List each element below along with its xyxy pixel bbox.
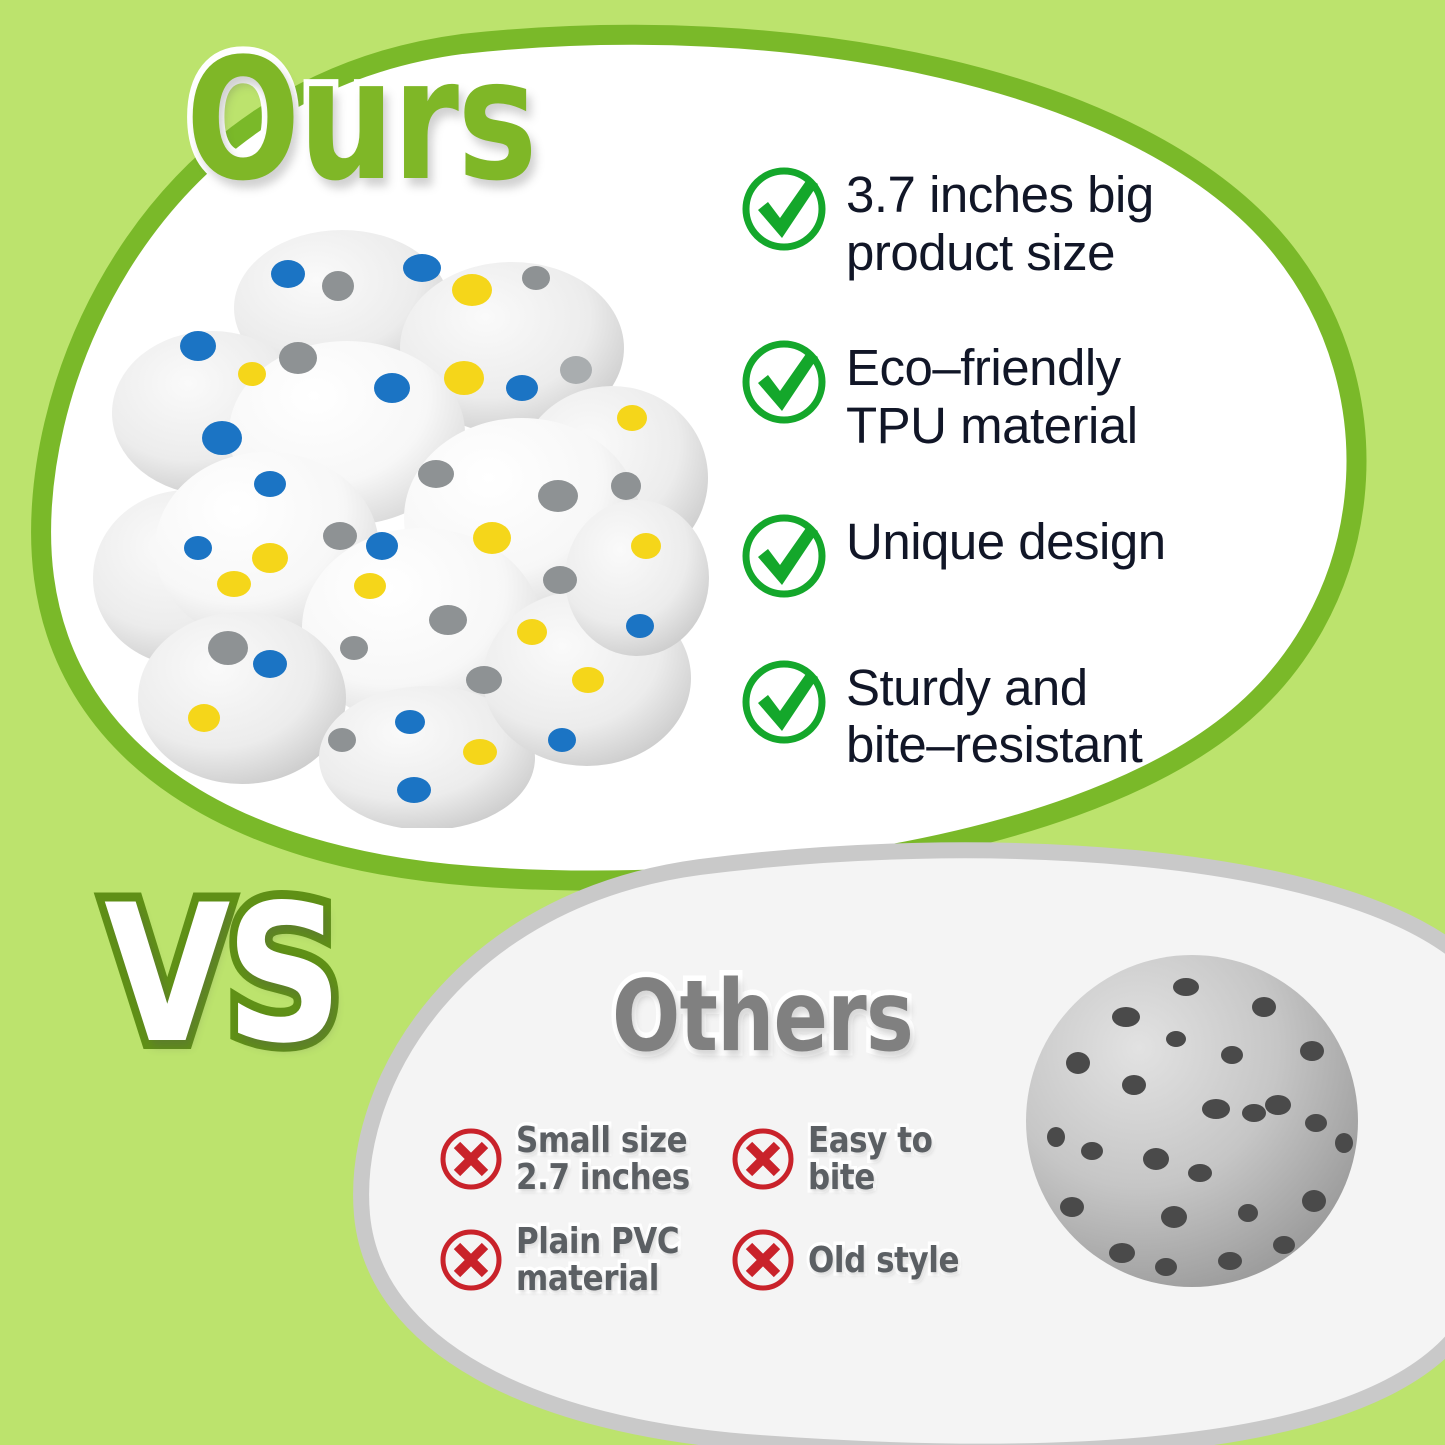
drawback-label: Plain PVC material xyxy=(516,1223,679,1298)
drawback-item: Old style xyxy=(730,1223,1018,1298)
feature-label: Eco–friendly TPU material xyxy=(846,333,1138,454)
red-x-circle-icon xyxy=(438,1126,504,1192)
ours-product-image xyxy=(92,228,712,828)
red-x-circle-icon xyxy=(438,1227,504,1293)
drawback-item: Easy to bite xyxy=(730,1122,1018,1197)
comparison-infographic: Ours VS Others 3.7 inches big product si… xyxy=(0,0,1445,1445)
drawback-label: Small size 2.7 inches xyxy=(516,1122,690,1197)
drawback-item: Plain PVC material xyxy=(438,1223,730,1298)
drawback-item: Small size 2.7 inches xyxy=(438,1122,730,1197)
ours-title: Ours xyxy=(186,36,536,204)
drawback-label: Easy to bite xyxy=(808,1122,989,1197)
others-product-image xyxy=(1016,945,1368,1297)
green-check-circle-icon xyxy=(738,335,830,427)
feature-item: Unique design xyxy=(738,507,1168,601)
feature-label: 3.7 inches big product size xyxy=(846,160,1154,281)
feature-item: Eco–friendly TPU material xyxy=(738,333,1168,454)
vs-label: VS xyxy=(104,880,338,1070)
feature-label: Sturdy and bite–resistant xyxy=(846,653,1142,774)
green-check-circle-icon xyxy=(738,162,830,254)
drawback-label: Old style xyxy=(808,1242,959,1279)
feature-label: Unique design xyxy=(846,507,1166,571)
ours-feature-list: 3.7 inches big product size Eco–friendly… xyxy=(738,160,1168,774)
others-title: Others xyxy=(612,968,913,1066)
others-drawback-list: Small size 2.7 inches Easy to bite Plain… xyxy=(438,1122,1018,1298)
feature-item: 3.7 inches big product size xyxy=(738,160,1168,281)
green-check-circle-icon xyxy=(738,655,830,747)
ball-lobes xyxy=(93,230,709,828)
green-check-circle-icon xyxy=(738,509,830,601)
red-x-circle-icon xyxy=(730,1227,796,1293)
feature-item: Sturdy and bite–resistant xyxy=(738,653,1168,774)
red-x-circle-icon xyxy=(730,1126,796,1192)
